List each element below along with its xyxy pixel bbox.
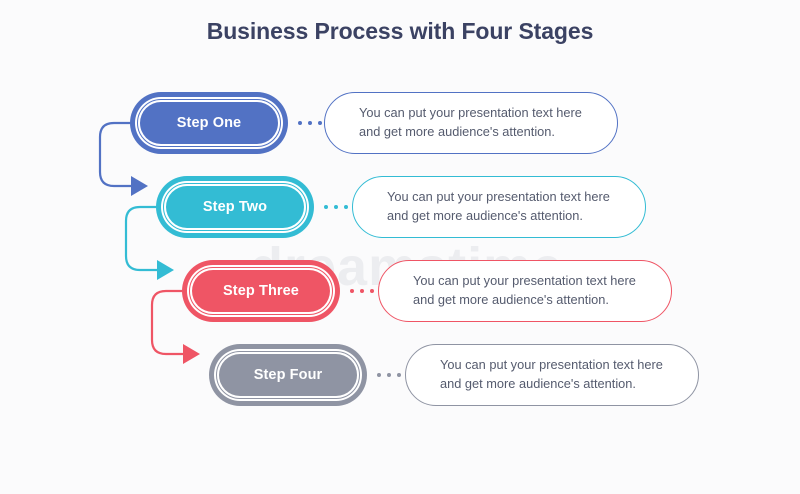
connector-dot-small [334,205,338,209]
description-line-2: and get more audience's attention. [359,123,582,142]
connector-dot-small [318,121,322,125]
connector-three-to-four-line [152,291,183,354]
step-pill-inner: Step Four [219,354,357,396]
step-label: Step Three [223,283,299,299]
description-line-2: and get more audience's attention. [413,291,636,310]
connector-dot-small [344,205,348,209]
step-pill-3[interactable]: Step Three [182,260,340,322]
step-description-box-3: You can put your presentation text herea… [378,260,672,322]
description-line-2: and get more audience's attention. [387,207,610,226]
step-pill-1[interactable]: Step One [130,92,288,154]
connector-two-to-three-line [126,207,157,270]
connector-dot-small [397,373,401,377]
connector-two-to-three-arrowhead [157,260,174,280]
connector-three-to-four-arrowhead [183,344,200,364]
description-line-1: You can put your presentation text here [413,272,636,291]
description-line-1: You can put your presentation text here [387,188,610,207]
step-row-2: Step TwoYou can put your presentation te… [156,176,646,248]
connector-dot-small [324,205,328,209]
connector-dot-small [360,289,364,293]
step-pill-inner: Step Two [166,186,304,228]
step-pill-4[interactable]: Step Four [209,344,367,406]
connector-one-to-two-line [100,123,131,186]
step-label: Step One [177,115,241,131]
connector-dot-small [387,373,391,377]
step-pill-2[interactable]: Step Two [156,176,314,238]
step-description-box-1: You can put your presentation text herea… [324,92,618,154]
connector-dot-small [298,121,302,125]
step-pill-inner: Step One [140,102,278,144]
step-pill-inner: Step Three [192,270,330,312]
step-description-text: You can put your presentation text herea… [325,104,600,141]
step-row-1: Step OneYou can put your presentation te… [130,92,618,164]
connector-dot-small [377,373,381,377]
step-row-3: Step ThreeYou can put your presentation … [182,260,672,332]
step-description-text: You can put your presentation text herea… [353,188,628,225]
infographic-root: Business Process with Four Stages dreams… [0,0,800,494]
step-row-4: Step FourYou can put your presentation t… [209,344,699,416]
step-description-text: You can put your presentation text herea… [406,356,681,393]
connector-one-to-two-arrowhead [131,176,148,196]
description-line-1: You can put your presentation text here [359,104,582,123]
connector-dot-small [308,121,312,125]
step-label: Step Two [203,199,267,215]
connector-dot-small [370,289,374,293]
step-description-text: You can put your presentation text herea… [379,272,654,309]
step-description-box-2: You can put your presentation text herea… [352,176,646,238]
description-line-1: You can put your presentation text here [440,356,663,375]
step-description-box-4: You can put your presentation text herea… [405,344,699,406]
step-label: Step Four [254,367,323,383]
description-line-2: and get more audience's attention. [440,375,663,394]
connector-dot-small [350,289,354,293]
page-title: Business Process with Four Stages [0,18,800,45]
